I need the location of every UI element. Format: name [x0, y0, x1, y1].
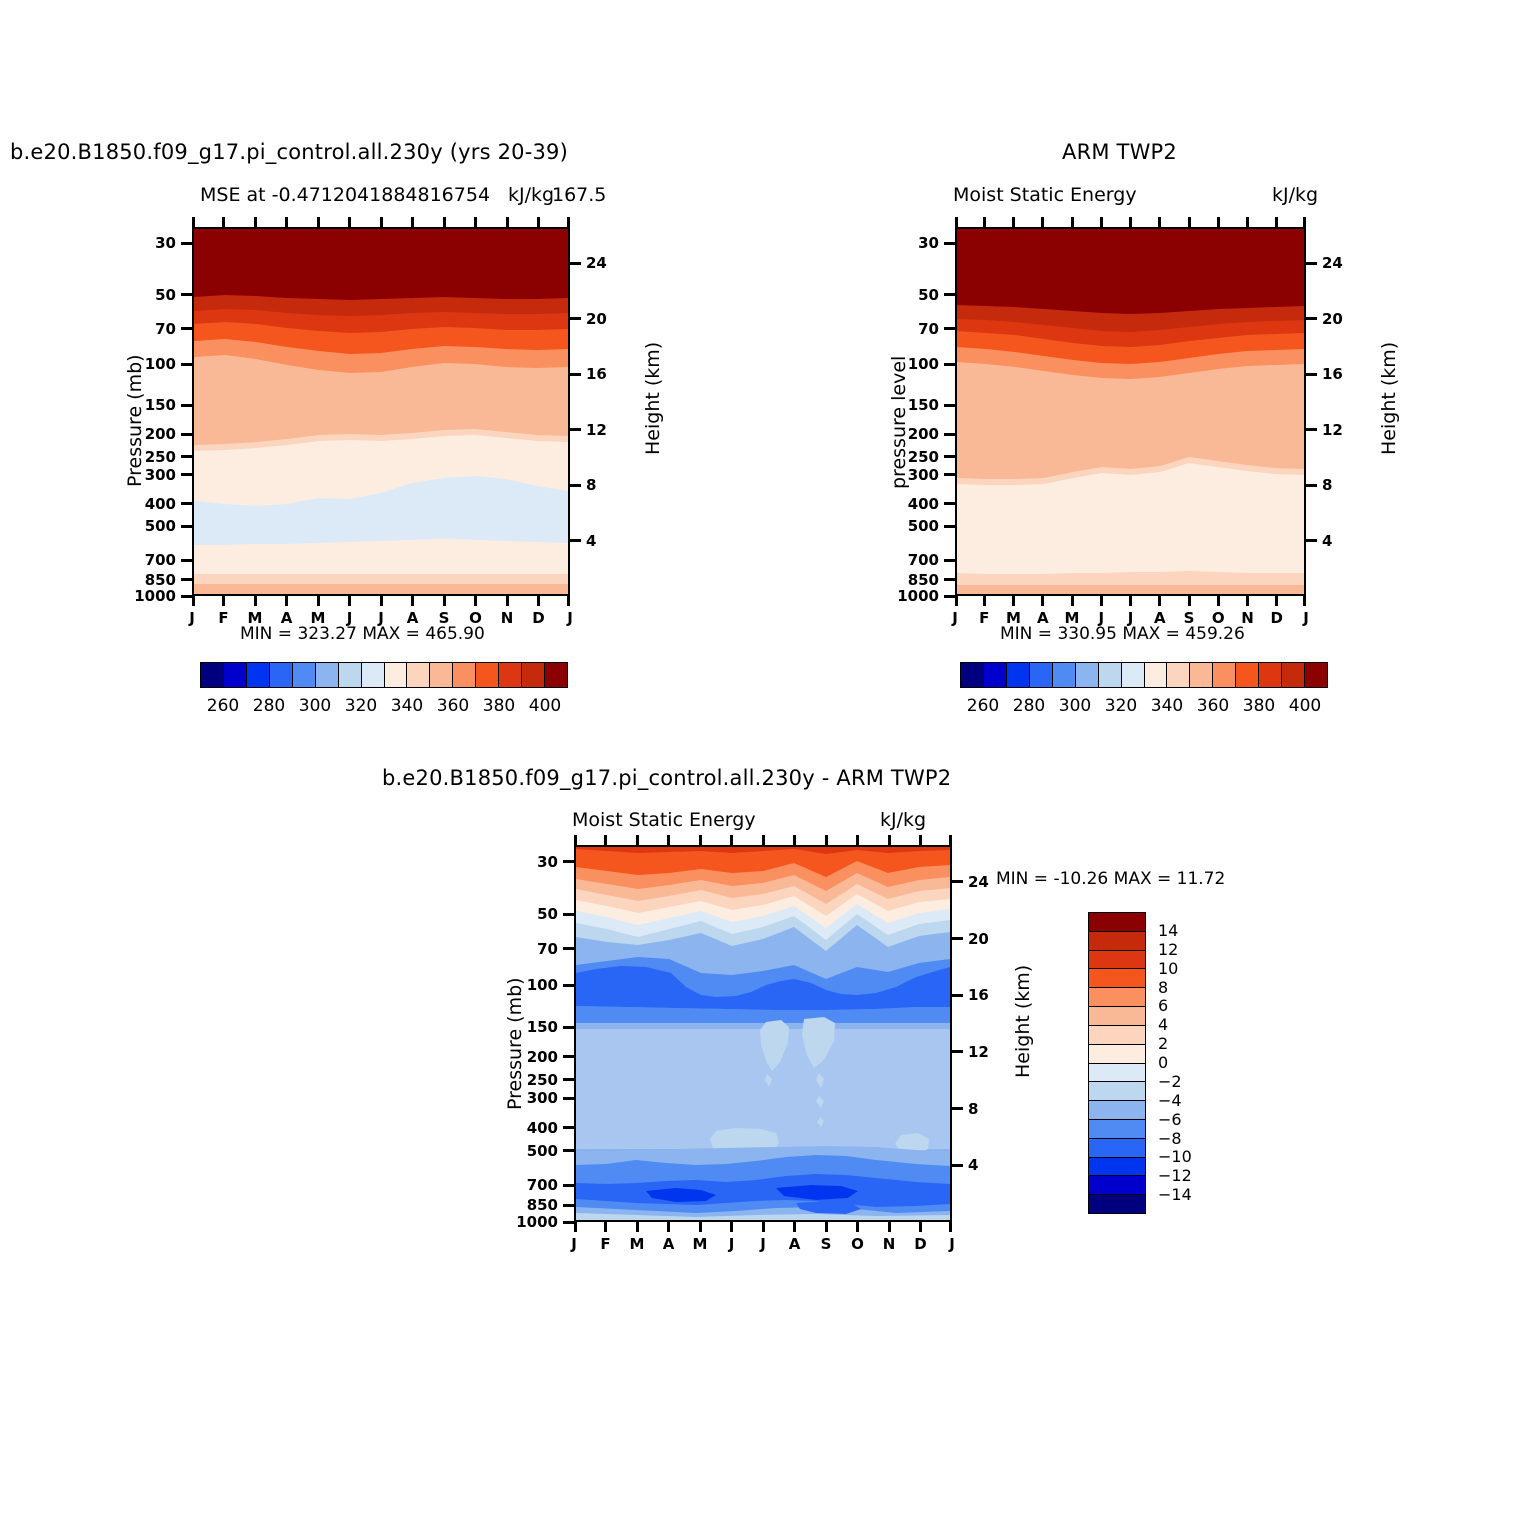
pressure-tick-850 — [181, 578, 192, 581]
diff-colorbar-label-14: −14 — [1158, 1185, 1192, 1204]
diff-colorbar-swatch-4 — [1089, 988, 1145, 1007]
diff-colorbar-label-11: −8 — [1158, 1129, 1182, 1148]
month-label-10: N — [1241, 609, 1254, 627]
pressure-tick-400 — [944, 502, 955, 505]
month-label-11: D — [1271, 609, 1283, 627]
pressure-tick-400 — [563, 1126, 574, 1129]
month-label-0: J — [189, 609, 195, 627]
diff-colorbar-label-3: 8 — [1158, 978, 1168, 997]
diff-colorbar-swatch-12 — [1089, 1139, 1145, 1158]
diff-colorbar-swatch-2 — [1089, 951, 1145, 970]
height-tick-label-16: 16 — [968, 986, 989, 1004]
diff-colorbar-label-10: −6 — [1158, 1110, 1182, 1129]
pressure-tick-250 — [563, 1078, 574, 1081]
pressure-tick-70 — [563, 947, 574, 950]
month-label-9: O — [1212, 609, 1225, 627]
month-label-6: J — [378, 609, 384, 627]
month-tick-top-6 — [1129, 217, 1132, 227]
colorbar-swatch-8 — [1145, 663, 1168, 687]
month-tick-top-0 — [955, 217, 958, 227]
pressure-tick-700 — [181, 559, 192, 562]
month-tick-top-11 — [537, 217, 540, 227]
model-minmax: MIN = 323.27 MAX = 465.90 — [240, 624, 485, 644]
obs-minmax: MIN = 330.95 MAX = 459.26 — [1000, 624, 1245, 644]
pressure-tick-label-500: 500 — [908, 517, 939, 535]
month-label-1: F — [600, 1235, 610, 1253]
colorbar-swatch-6 — [339, 663, 362, 687]
pressure-tick-1000 — [563, 1221, 574, 1224]
month-label-6: J — [760, 1235, 766, 1253]
diff-colorbar-label-5: 4 — [1158, 1015, 1168, 1034]
pressure-tick-label-150: 150 — [527, 1018, 558, 1036]
obs-panel-title: ARM TWP2 — [1062, 140, 1177, 164]
height-tick-20 — [570, 317, 581, 320]
diff-colorbar-swatch-10 — [1089, 1101, 1145, 1120]
colorbar-swatch-12 — [476, 663, 499, 687]
height-tick-label-4: 4 — [1322, 532, 1332, 550]
colorbar-swatch-11 — [453, 663, 476, 687]
diff-yaxis-label: Pressure (mb) — [504, 977, 526, 1110]
diff-colorbar-swatch-0 — [1089, 913, 1145, 932]
diff-colorbar-swatch-13 — [1089, 1158, 1145, 1177]
colorbar-swatch-6 — [1099, 663, 1122, 687]
pressure-tick-label-70: 70 — [918, 320, 939, 338]
month-label-4: M — [693, 1235, 708, 1253]
month-tick-bottom-3 — [1041, 596, 1044, 606]
month-tick-bottom-11 — [919, 1222, 922, 1232]
pressure-tick-1000 — [181, 595, 192, 598]
month-tick-top-9 — [474, 217, 477, 227]
month-label-5: J — [347, 609, 353, 627]
pressure-tick-850 — [944, 578, 955, 581]
diff-colorbar-swatch-9 — [1089, 1082, 1145, 1101]
colorbar-swatch-1 — [984, 663, 1007, 687]
month-tick-top-3 — [1041, 217, 1044, 227]
month-tick-bottom-7 — [793, 1222, 796, 1232]
month-tick-top-7 — [793, 835, 796, 845]
month-label-8: S — [821, 1235, 832, 1253]
month-tick-bottom-2 — [636, 1222, 639, 1232]
pressure-tick-label-700: 700 — [908, 551, 939, 569]
height-tick-16 — [1306, 373, 1317, 376]
month-label-1: F — [218, 609, 228, 627]
month-tick-top-10 — [1246, 217, 1249, 227]
month-label-6: J — [1128, 609, 1134, 627]
model-panel-subtitle-units: kJ/kg — [508, 184, 554, 206]
pressure-tick-70 — [944, 327, 955, 330]
pressure-tick-30 — [944, 242, 955, 245]
height-tick-label-20: 20 — [968, 930, 989, 948]
diff-colorbar-swatch-1 — [1089, 932, 1145, 951]
colorbar-swatch-13 — [1259, 663, 1282, 687]
pressure-tick-50 — [181, 293, 192, 296]
colorbar-label-340: 340 — [1151, 696, 1183, 716]
pressure-tick-200 — [563, 1055, 574, 1058]
pressure-tick-label-70: 70 — [537, 940, 558, 958]
pressure-tick-50 — [563, 913, 574, 916]
month-label-3: A — [1037, 609, 1049, 627]
month-tick-bottom-5 — [1100, 596, 1103, 606]
diff-contour-plot[interactable] — [574, 845, 952, 1222]
pressure-tick-label-250: 250 — [145, 448, 176, 466]
colorbar-swatch-0 — [201, 663, 224, 687]
pressure-tick-label-30: 30 — [155, 234, 176, 252]
colorbar-label-320: 320 — [345, 696, 377, 716]
month-tick-bottom-8 — [443, 596, 446, 606]
diff-colorbar-label-12: −10 — [1158, 1147, 1192, 1166]
model-panel-subtitle-left: MSE at -0.4712041884816754 — [200, 184, 490, 206]
height-tick-24 — [1306, 262, 1317, 265]
pressure-tick-500 — [563, 1149, 574, 1152]
pressure-tick-label-200: 200 — [145, 425, 176, 443]
colorbar-label-400: 400 — [1289, 696, 1321, 716]
obs-panel-subtitle-units: kJ/kg — [1272, 184, 1318, 206]
month-tick-top-6 — [380, 217, 383, 227]
month-tick-top-3 — [285, 217, 288, 227]
colorbar-label-300: 300 — [1059, 696, 1091, 716]
month-label-4: M — [311, 609, 326, 627]
model-colorbar[interactable] — [200, 662, 568, 688]
pressure-tick-label-300: 300 — [908, 466, 939, 484]
model-contour-plot[interactable] — [192, 227, 570, 596]
model-contour-svg — [194, 229, 568, 594]
pressure-tick-label-500: 500 — [527, 1142, 558, 1160]
colorbar-label-340: 340 — [391, 696, 423, 716]
height-tick-label-24: 24 — [1322, 254, 1343, 272]
diff-colorbar-label-13: −12 — [1158, 1166, 1192, 1185]
colorbar-label-360: 360 — [437, 696, 469, 716]
diff-colorbar-swatch-5 — [1089, 1007, 1145, 1026]
pressure-tick-label-30: 30 — [537, 853, 558, 871]
height-tick-20 — [952, 937, 963, 940]
height-tick-8 — [952, 1107, 963, 1110]
month-tick-top-11 — [1275, 217, 1278, 227]
colorbar-label-280: 280 — [253, 696, 285, 716]
month-label-12: J — [949, 1235, 955, 1253]
month-tick-top-5 — [348, 217, 351, 227]
diff-colorbar-label-2: 10 — [1158, 959, 1178, 978]
colorbar-swatch-13 — [499, 663, 522, 687]
month-tick-bottom-12 — [567, 596, 570, 606]
height-tick-12 — [1306, 428, 1317, 431]
pressure-tick-300 — [563, 1097, 574, 1100]
pressure-tick-label-700: 700 — [527, 1176, 558, 1194]
pressure-tick-label-850: 850 — [145, 571, 176, 589]
month-tick-bottom-1 — [604, 1222, 607, 1232]
pressure-tick-label-700: 700 — [145, 551, 176, 569]
month-label-5: J — [1098, 609, 1104, 627]
diff-colorbar-label-4: 6 — [1158, 996, 1168, 1015]
month-tick-bottom-11 — [1275, 596, 1278, 606]
month-tick-top-0 — [574, 835, 577, 845]
month-label-10: N — [501, 609, 514, 627]
pressure-tick-1000 — [944, 595, 955, 598]
month-tick-bottom-3 — [285, 596, 288, 606]
month-tick-top-6 — [762, 835, 765, 845]
diff-panel-title: b.e20.B1850.f09_g17.pi_control.all.230y … — [382, 766, 951, 790]
colorbar-swatch-14 — [1282, 663, 1305, 687]
pressure-tick-30 — [181, 242, 192, 245]
month-tick-bottom-10 — [506, 596, 509, 606]
diff-colorbar-swatch-11 — [1089, 1120, 1145, 1139]
height-tick-4 — [570, 539, 581, 542]
month-label-0: J — [952, 609, 958, 627]
diff-colorbar[interactable] — [1088, 912, 1146, 1214]
month-label-12: J — [1303, 609, 1309, 627]
diff-colorbar-label-0: 14 — [1158, 921, 1178, 940]
month-tick-top-4 — [317, 217, 320, 227]
pressure-tick-label-400: 400 — [527, 1119, 558, 1137]
month-tick-bottom-4 — [1071, 596, 1074, 606]
diff-colorbar-swatch-3 — [1089, 969, 1145, 988]
month-tick-top-12 — [567, 217, 570, 227]
model-panel-subtitle-right: 167.5 — [552, 184, 606, 206]
colorbar-label-280: 280 — [1013, 696, 1045, 716]
colorbar-swatch-3 — [1030, 663, 1053, 687]
pressure-tick-label-1000: 1000 — [897, 587, 939, 605]
month-tick-top-3 — [667, 835, 670, 845]
obs-yaxis-label: pressure level — [888, 356, 910, 489]
month-tick-top-10 — [888, 835, 891, 845]
pressure-tick-label-50: 50 — [155, 286, 176, 304]
pressure-tick-200 — [944, 433, 955, 436]
month-label-5: J — [729, 1235, 735, 1253]
pressure-tick-label-850: 850 — [527, 1196, 558, 1214]
height-tick-16 — [952, 994, 963, 997]
pressure-tick-label-50: 50 — [537, 905, 558, 923]
month-tick-bottom-8 — [1188, 596, 1191, 606]
colorbar-swatch-2 — [1007, 663, 1030, 687]
month-tick-bottom-1 — [983, 596, 986, 606]
diff-colorbar-label-7: 0 — [1158, 1053, 1168, 1072]
month-tick-bottom-9 — [856, 1222, 859, 1232]
month-tick-top-5 — [1100, 217, 1103, 227]
month-label-1: F — [979, 609, 989, 627]
colorbar-label-400: 400 — [529, 696, 561, 716]
month-tick-bottom-7 — [411, 596, 414, 606]
colorbar-swatch-10 — [1190, 663, 1213, 687]
colorbar-swatch-0 — [961, 663, 984, 687]
month-tick-bottom-8 — [825, 1222, 828, 1232]
pressure-tick-700 — [944, 559, 955, 562]
pressure-tick-30 — [563, 860, 574, 863]
month-label-3: A — [281, 609, 293, 627]
month-tick-top-2 — [254, 217, 257, 227]
month-tick-top-2 — [1012, 217, 1015, 227]
month-tick-bottom-5 — [730, 1222, 733, 1232]
model-yaxis-right-label: Height (km) — [642, 342, 664, 455]
colorbar-swatch-4 — [293, 663, 316, 687]
height-tick-label-24: 24 — [586, 254, 607, 272]
month-tick-top-1 — [983, 217, 986, 227]
month-tick-bottom-6 — [762, 1222, 765, 1232]
month-tick-bottom-2 — [1012, 596, 1015, 606]
pressure-tick-label-850: 850 — [908, 571, 939, 589]
month-tick-bottom-4 — [699, 1222, 702, 1232]
pressure-tick-label-50: 50 — [918, 286, 939, 304]
height-tick-label-8: 8 — [1322, 476, 1332, 494]
pressure-tick-label-100: 100 — [908, 355, 939, 373]
obs-contour-svg — [957, 229, 1304, 594]
obs-panel-subtitle-left: Moist Static Energy — [953, 184, 1137, 206]
height-tick-label-4: 4 — [586, 532, 596, 550]
diff-colorbar-swatch-6 — [1089, 1026, 1145, 1045]
month-tick-bottom-2 — [254, 596, 257, 606]
height-tick-label-16: 16 — [1322, 365, 1343, 383]
month-label-7: A — [1154, 609, 1166, 627]
colorbar-label-380: 380 — [483, 696, 515, 716]
colorbar-label-300: 300 — [299, 696, 331, 716]
colorbar-swatch-11 — [1213, 663, 1236, 687]
colorbar-label-260: 260 — [967, 696, 999, 716]
colorbar-swatch-2 — [247, 663, 270, 687]
pressure-tick-label-250: 250 — [908, 448, 939, 466]
month-tick-bottom-4 — [317, 596, 320, 606]
colorbar-label-260: 260 — [207, 696, 239, 716]
colorbar-swatch-9 — [407, 663, 430, 687]
pressure-tick-label-1000: 1000 — [516, 1213, 558, 1231]
height-tick-24 — [952, 880, 963, 883]
month-tick-top-7 — [411, 217, 414, 227]
month-tick-bottom-10 — [888, 1222, 891, 1232]
diff-colorbar-label-8: −2 — [1158, 1072, 1182, 1091]
month-tick-top-7 — [1158, 217, 1161, 227]
diff-colorbar-swatch-15 — [1089, 1195, 1145, 1213]
pressure-tick-label-300: 300 — [145, 466, 176, 484]
month-tick-bottom-0 — [192, 596, 195, 606]
month-label-2: M — [630, 1235, 645, 1253]
colorbar-swatch-8 — [385, 663, 408, 687]
month-tick-top-2 — [636, 835, 639, 845]
colorbar-swatch-14 — [522, 663, 545, 687]
month-tick-bottom-0 — [955, 596, 958, 606]
pressure-tick-label-150: 150 — [908, 396, 939, 414]
pressure-tick-label-500: 500 — [145, 517, 176, 535]
month-tick-top-1 — [604, 835, 607, 845]
month-label-10: N — [883, 1235, 896, 1253]
height-tick-label-4: 4 — [968, 1156, 978, 1174]
diff-colorbar-label-1: 12 — [1158, 940, 1178, 959]
colorbar-swatch-5 — [1076, 663, 1099, 687]
month-label-8: S — [1184, 609, 1195, 627]
month-label-4: M — [1065, 609, 1080, 627]
month-label-12: J — [567, 609, 573, 627]
pressure-tick-850 — [563, 1204, 574, 1207]
month-label-2: M — [248, 609, 263, 627]
month-label-2: M — [1006, 609, 1021, 627]
month-label-11: D — [914, 1235, 926, 1253]
height-tick-label-20: 20 — [586, 310, 607, 328]
month-tick-bottom-9 — [1217, 596, 1220, 606]
height-tick-label-12: 12 — [586, 421, 607, 439]
model-panel-title: b.e20.B1850.f09_g17.pi_control.all.230y … — [10, 140, 568, 164]
pressure-tick-label-400: 400 — [145, 495, 176, 513]
pressure-tick-label-100: 100 — [145, 355, 176, 373]
pressure-tick-500 — [181, 525, 192, 528]
month-label-8: S — [439, 609, 450, 627]
pressure-tick-label-100: 100 — [527, 976, 558, 994]
diff-colorbar-swatch-8 — [1089, 1064, 1145, 1083]
month-label-7: A — [407, 609, 419, 627]
height-tick-label-8: 8 — [586, 476, 596, 494]
month-label-9: O — [469, 609, 482, 627]
pressure-tick-100 — [944, 363, 955, 366]
pressure-tick-label-30: 30 — [918, 234, 939, 252]
month-tick-top-10 — [506, 217, 509, 227]
height-tick-8 — [1306, 484, 1317, 487]
colorbar-swatch-1 — [224, 663, 247, 687]
diff-minmax: MIN = -10.26 MAX = 11.72 — [996, 869, 1225, 889]
colorbar-label-320: 320 — [1105, 696, 1137, 716]
month-tick-bottom-10 — [1246, 596, 1249, 606]
month-label-7: A — [789, 1235, 801, 1253]
pressure-tick-70 — [181, 327, 192, 330]
pressure-tick-200 — [181, 433, 192, 436]
diff-panel-subtitle-left: Moist Static Energy — [572, 809, 756, 831]
colorbar-swatch-5 — [316, 663, 339, 687]
height-tick-12 — [570, 428, 581, 431]
month-tick-bottom-7 — [1158, 596, 1161, 606]
colorbar-swatch-3 — [270, 663, 293, 687]
diff-colorbar-label-9: −4 — [1158, 1091, 1182, 1110]
pressure-tick-150 — [944, 404, 955, 407]
pressure-tick-100 — [181, 363, 192, 366]
month-tick-bottom-9 — [474, 596, 477, 606]
obs-yaxis-right-label: Height (km) — [1378, 342, 1400, 455]
month-tick-bottom-0 — [574, 1222, 577, 1232]
month-tick-bottom-11 — [537, 596, 540, 606]
month-tick-top-12 — [1303, 217, 1306, 227]
height-tick-4 — [952, 1164, 963, 1167]
colorbar-label-380: 380 — [1243, 696, 1275, 716]
colorbar-swatch-12 — [1236, 663, 1259, 687]
month-tick-top-0 — [192, 217, 195, 227]
month-tick-bottom-12 — [949, 1222, 952, 1232]
diff-colorbar-label-6: 2 — [1158, 1034, 1168, 1053]
colorbar-swatch-10 — [430, 663, 453, 687]
pressure-tick-400 — [181, 502, 192, 505]
height-tick-label-8: 8 — [968, 1100, 978, 1118]
pressure-tick-150 — [181, 404, 192, 407]
pressure-tick-50 — [944, 293, 955, 296]
month-label-9: O — [851, 1235, 864, 1253]
obs-colorbar[interactable] — [960, 662, 1328, 688]
obs-contour-plot[interactable] — [955, 227, 1306, 596]
diff-panel-subtitle-units: kJ/kg — [880, 809, 926, 831]
height-tick-16 — [570, 373, 581, 376]
colorbar-swatch-9 — [1167, 663, 1190, 687]
pressure-tick-label-300: 300 — [527, 1089, 558, 1107]
pressure-tick-300 — [944, 473, 955, 476]
height-tick-label-16: 16 — [586, 365, 607, 383]
height-tick-24 — [570, 262, 581, 265]
colorbar-swatch-4 — [1053, 663, 1076, 687]
colorbar-swatch-7 — [1122, 663, 1145, 687]
colorbar-swatch-7 — [362, 663, 385, 687]
model-yaxis-label: Pressure (mb) — [124, 354, 146, 487]
pressure-tick-label-200: 200 — [527, 1048, 558, 1066]
pressure-tick-250 — [181, 455, 192, 458]
month-tick-top-11 — [919, 835, 922, 845]
height-tick-label-24: 24 — [968, 873, 989, 891]
diff-yaxis-right-label: Height (km) — [1012, 965, 1034, 1078]
pressure-tick-300 — [181, 473, 192, 476]
month-tick-top-4 — [699, 835, 702, 845]
month-tick-top-1 — [222, 217, 225, 227]
diff-colorbar-swatch-14 — [1089, 1176, 1145, 1195]
month-tick-bottom-12 — [1303, 596, 1306, 606]
height-tick-label-12: 12 — [1322, 421, 1343, 439]
